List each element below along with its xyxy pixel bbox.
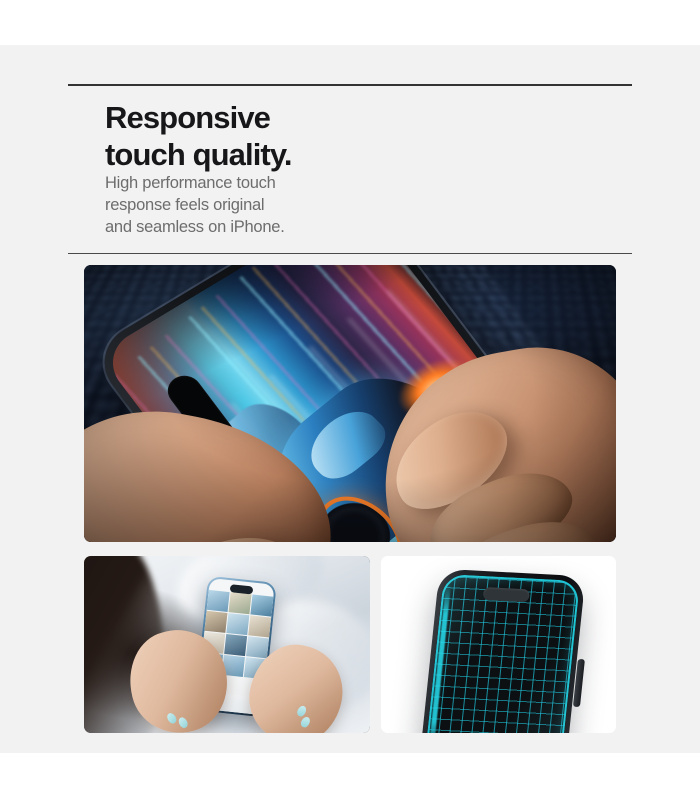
sensor-phone-screen [426, 574, 580, 733]
page-title: Responsive touch quality. [105, 100, 525, 173]
hero-image [84, 265, 616, 542]
thumbnail-sensor-grid [381, 556, 616, 733]
fingernail [299, 715, 311, 729]
page-subtitle: High performance touch response feels or… [105, 173, 405, 239]
headline-line-2: touch quality. [105, 137, 525, 174]
body-line-3: and seamless on iPhone. [105, 217, 405, 239]
photo-cell [229, 592, 252, 614]
photo-cell [226, 613, 249, 635]
photo-cell [224, 634, 247, 656]
photo-cell [250, 594, 273, 616]
photo-cell [246, 636, 269, 658]
thumbnail-bed-scrolling [84, 556, 370, 733]
headline-line-1: Responsive [105, 100, 525, 137]
sensor-phone-notch [483, 587, 531, 603]
photo-cell [248, 615, 271, 637]
feature-panel: Responsive touch quality. High performan… [0, 45, 700, 753]
fingernail [177, 716, 189, 729]
photo-cell [205, 611, 228, 633]
body-line-2: response feels original [105, 195, 405, 217]
sensor-phone [421, 569, 586, 733]
car-canopy [296, 401, 395, 488]
divider-top [68, 84, 632, 86]
fingernail [165, 712, 178, 726]
divider-bottom [68, 253, 632, 254]
product-feature-page: Responsive touch quality. High performan… [0, 0, 700, 800]
photo-cell [207, 590, 230, 612]
left-thumb [143, 522, 312, 542]
body-line-1: High performance touch [105, 173, 405, 195]
